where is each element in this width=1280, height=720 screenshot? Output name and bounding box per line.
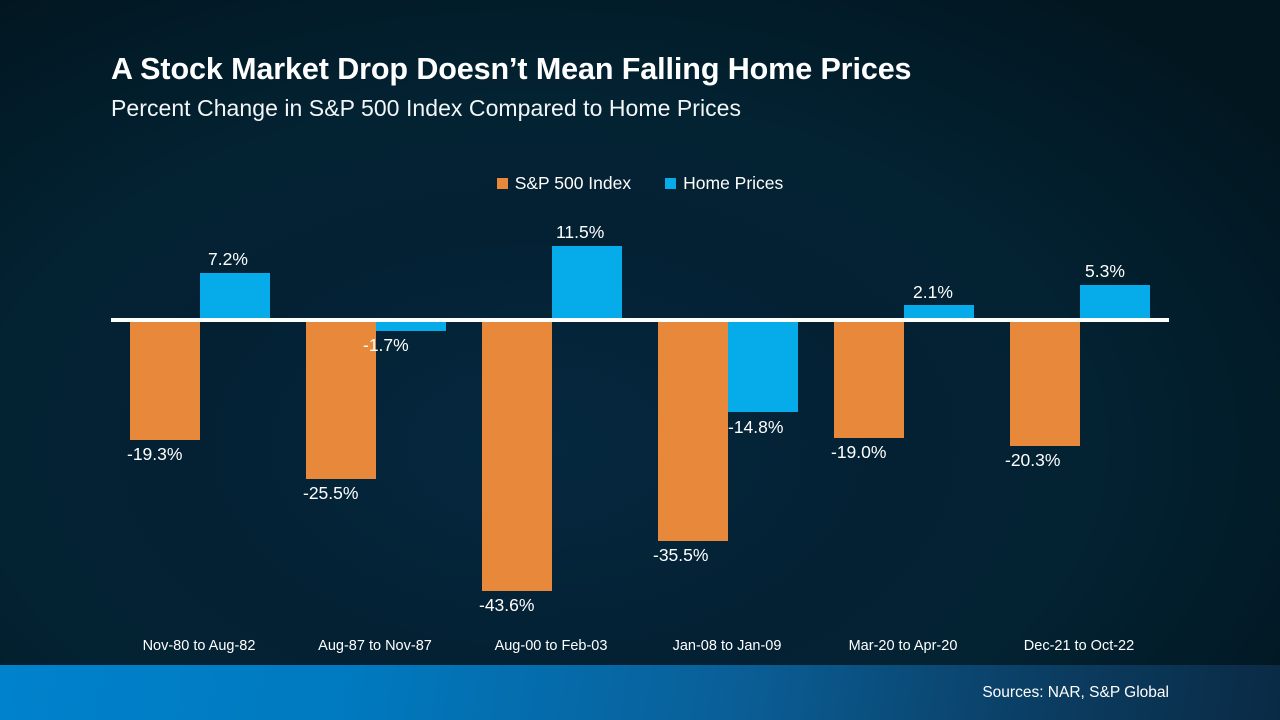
bar-sp500-4[interactable]	[658, 320, 728, 541]
page-subtitle: Percent Change in S&P 500 Index Compared…	[111, 95, 1191, 122]
bar-sp500-1[interactable]	[130, 320, 200, 440]
zero-axis-line	[111, 318, 1169, 322]
bar-label-sp500-1: -19.3%	[127, 444, 182, 465]
x-axis-labels: Nov-80 to Aug-82 Aug-87 to Nov-87 Aug-00…	[111, 638, 1169, 662]
bar-group-4: -35.5% -14.8%	[639, 210, 815, 630]
bar-label-home-prices-3: 11.5%	[556, 222, 604, 243]
x-axis-label-2: Aug-87 to Nov-87	[287, 638, 463, 654]
bar-label-sp500-3: -43.6%	[479, 595, 534, 616]
legend-item-sp500[interactable]: S&P 500 Index	[497, 173, 631, 194]
bar-label-home-prices-6: 5.3%	[1085, 261, 1125, 282]
bar-group-5: -19.0% 2.1%	[815, 210, 991, 630]
bar-group-2: -25.5% -1.7%	[287, 210, 463, 630]
chart-legend: S&P 500 Index Home Prices	[0, 173, 1280, 194]
bar-label-home-prices-5: 2.1%	[913, 282, 953, 303]
x-axis-label-4: Jan-08 to Jan-09	[639, 638, 815, 654]
bar-home-prices-6[interactable]	[1080, 285, 1150, 318]
legend-item-home-prices[interactable]: Home Prices	[665, 173, 783, 194]
bar-label-home-prices-1: 7.2%	[208, 249, 248, 270]
bar-group-6: -20.3% 5.3%	[991, 210, 1167, 630]
bar-group-1: -19.3% 7.2%	[111, 210, 287, 630]
x-axis-label-5: Mar-20 to Apr-20	[815, 638, 991, 654]
slide-canvas: A Stock Market Drop Doesn’t Mean Falling…	[0, 0, 1280, 720]
bar-label-sp500-6: -20.3%	[1005, 450, 1060, 471]
legend-label-sp500: S&P 500 Index	[515, 173, 631, 194]
bar-label-home-prices-2: -1.7%	[363, 335, 409, 356]
bar-home-prices-3[interactable]	[552, 246, 622, 318]
x-axis-label-3: Aug-00 to Feb-03	[463, 638, 639, 654]
legend-swatch-home-prices-icon	[665, 178, 676, 189]
bar-home-prices-4[interactable]	[728, 320, 798, 412]
bar-label-home-prices-4: -14.8%	[728, 417, 783, 438]
sources-text: Sources: NAR, S&P Global	[982, 684, 1169, 702]
x-axis-label-1: Nov-80 to Aug-82	[111, 638, 287, 654]
bar-sp500-6[interactable]	[1010, 320, 1080, 446]
bar-home-prices-1[interactable]	[200, 273, 270, 318]
bar-group-3: -43.6% 11.5%	[463, 210, 639, 630]
header: A Stock Market Drop Doesn’t Mean Falling…	[111, 52, 1191, 122]
bar-sp500-3[interactable]	[482, 320, 552, 591]
page-title: A Stock Market Drop Doesn’t Mean Falling…	[111, 52, 1191, 87]
legend-swatch-sp500-icon	[497, 178, 508, 189]
bar-sp500-5[interactable]	[834, 320, 904, 438]
chart-plot-area: -19.3% 7.2% -25.5% -1.7% -43.6% 11.5% -3…	[111, 210, 1169, 630]
bar-label-sp500-5: -19.0%	[831, 442, 886, 463]
bar-home-prices-5[interactable]	[904, 305, 974, 318]
legend-label-home-prices: Home Prices	[683, 173, 783, 194]
bar-label-sp500-2: -25.5%	[303, 483, 358, 504]
x-axis-label-6: Dec-21 to Oct-22	[991, 638, 1167, 654]
bar-label-sp500-4: -35.5%	[653, 545, 708, 566]
